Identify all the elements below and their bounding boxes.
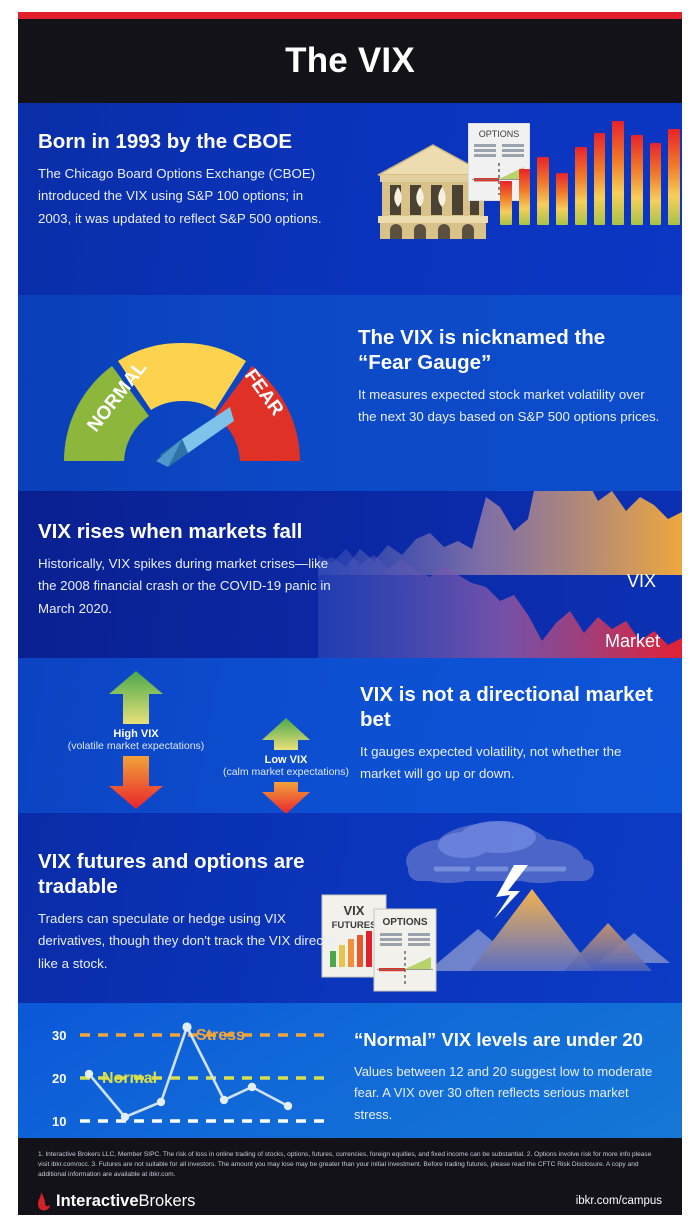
campus-url[interactable]: ibkr.com/campus: [576, 1195, 662, 1207]
series-label-market: Market: [605, 631, 660, 652]
section-born-heading: Born in 1993 by the CBOE: [38, 129, 338, 154]
options-card2-label: OPTIONS: [382, 917, 427, 928]
section-rises-body: Historically, VIX spikes during market c…: [38, 553, 338, 620]
section-not-directional: High VIX (volatile market expectations) …: [18, 658, 682, 813]
section-fear-gauge: NORMAL FEAR The VIX is nicknamed the “Fe…: [18, 295, 682, 491]
page-header: The VIX: [18, 19, 682, 103]
interactive-brokers-logo-icon: [38, 1192, 51, 1211]
section-vix-rises: VIX Market VIX rises when markets fall H…: [18, 491, 682, 658]
section-born-body: The Chicago Board Options Exchange (CBOE…: [38, 163, 338, 230]
brand-name-bold: Interactive: [56, 1192, 139, 1210]
section-normal-levels: 30 20 10 Stress Normal “Normal” VIX leve…: [18, 1003, 682, 1138]
section-normal-heading: “Normal” VIX levels are under 20: [354, 1029, 666, 1052]
section-notdir-body: It gauges expected volatility, not wheth…: [360, 741, 664, 786]
section-normal-body: Values between 12 and 20 suggest low to …: [354, 1061, 666, 1126]
section-rises-heading: VIX rises when markets fall: [38, 519, 338, 544]
page-title: The VIX: [285, 41, 415, 81]
bar-chart-art: [500, 121, 680, 225]
section-gauge-body: It measures expected stock market volati…: [358, 384, 660, 429]
arrow-down-orange-small-icon: [258, 782, 314, 813]
section-tradable-body: Traders can speculate or hedge using VIX…: [38, 908, 348, 975]
top-accent-bar: [18, 12, 682, 19]
section-notdir-heading: VIX is not a directional market bet: [360, 682, 664, 732]
section-gauge-heading: The VIX is nicknamed the “Fear Gauge”: [358, 325, 660, 375]
section-born-1993: Born in 1993 by the CBOE The Chicago Boa…: [18, 103, 682, 295]
page-footer: 1. Interactive Brokers LLC, Member SIPC.…: [18, 1138, 682, 1215]
section-tradable-heading: VIX futures and options are tradable: [38, 849, 348, 899]
infographic-sheet: The VIX Born in 1993 by the CBOE The Chi…: [18, 12, 682, 1215]
brand-name-light: Brokers: [139, 1192, 196, 1210]
options-card-icon: OPTIONS: [374, 909, 436, 991]
notdir-heading-pre: VIX is: [360, 683, 422, 706]
notdir-heading-bold: not: [422, 683, 454, 706]
brand-lockup[interactable]: InteractiveBrokers: [38, 1192, 195, 1211]
infographic-page: The VIX Born in 1993 by the CBOE The Chi…: [0, 0, 700, 1225]
storm-mountains-art: VIX FUTURES OPTIONS: [318, 813, 682, 1003]
disclaimer-text: 1. Interactive Brokers LLC, Member SIPC.…: [38, 1150, 658, 1181]
section-tradable: VIX FUTURES OPTIONS: [18, 813, 682, 1003]
series-label-vix: VIX: [627, 571, 656, 592]
